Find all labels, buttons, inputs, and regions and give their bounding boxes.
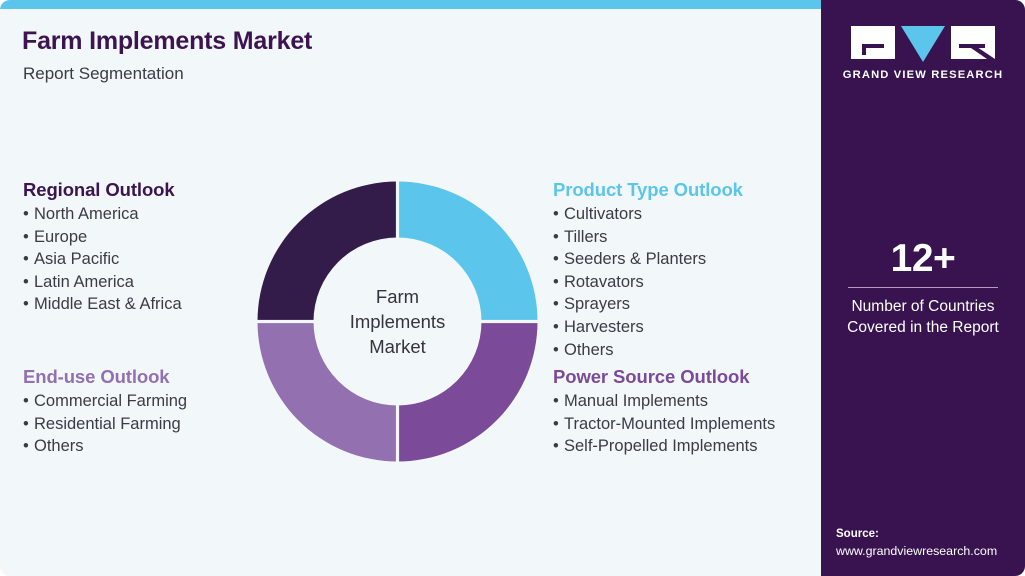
gvr-logo-icon <box>851 26 995 62</box>
source-url[interactable]: www.grandviewresearch.com <box>836 543 1025 560</box>
list-item-label: Manual Implements <box>564 392 708 410</box>
list-item: •Asia Pacific <box>23 248 182 271</box>
bullet-icon: • <box>23 271 34 294</box>
bullet-icon: • <box>23 226 34 249</box>
list-item: •Self-Propelled Implements <box>553 435 775 458</box>
bullet-icon: • <box>553 339 564 362</box>
list-item: •Commercial Farming <box>23 390 187 413</box>
list-item-label: Latin America <box>34 273 134 291</box>
countries-stat: 12+ Number of Countries Covered in the R… <box>821 238 1025 338</box>
bullet-icon: • <box>553 435 564 458</box>
bullet-icon: • <box>23 203 34 226</box>
list-item: •Rotavators <box>553 271 743 294</box>
right-sidebar: GRAND VIEW RESEARCH 12+ Number of Countr… <box>821 0 1025 576</box>
list-item-label: Others <box>564 341 614 359</box>
list-item: •Others <box>23 435 187 458</box>
grand-view-research-logo: GRAND VIEW RESEARCH <box>821 26 1025 81</box>
bullet-icon: • <box>23 390 34 413</box>
bullet-icon: • <box>553 293 564 316</box>
donut-segment-product-type <box>398 182 538 322</box>
list-item-label: Others <box>34 437 84 455</box>
list-item-label: Commercial Farming <box>34 392 187 410</box>
bullet-icon: • <box>553 390 564 413</box>
power-source-outlook-heading: Power Source Outlook <box>553 366 775 388</box>
list-item: •Cultivators <box>553 203 743 226</box>
list-item-label: Seeders & Planters <box>564 250 706 268</box>
list-item-label: Tractor-Mounted Implements <box>564 415 775 433</box>
donut-gap-top <box>396 181 399 239</box>
product-type-outlook-list: •Cultivators •Tillers •Seeders & Planter… <box>553 203 743 361</box>
bullet-icon: • <box>23 435 34 458</box>
donut-segment-regional <box>258 182 398 322</box>
stat-value: 12+ <box>821 238 1025 280</box>
list-item: •North America <box>23 203 182 226</box>
bullet-icon: • <box>553 226 564 249</box>
end-use-outlook-list: •Commercial Farming •Residential Farming… <box>23 390 187 458</box>
bullet-icon: • <box>553 413 564 436</box>
segmentation-donut-chart: Farm Implements Market <box>255 179 540 464</box>
list-item-label: Harvesters <box>564 318 644 336</box>
list-item-label: Asia Pacific <box>34 250 119 268</box>
stat-label-line-1: Number of Countries <box>821 296 1025 317</box>
list-item-label: Cultivators <box>564 205 642 223</box>
list-item-label: Europe <box>34 228 87 246</box>
power-source-outlook-list: •Manual Implements •Tractor-Mounted Impl… <box>553 390 775 458</box>
list-item: •Tractor-Mounted Implements <box>553 413 775 436</box>
donut-gap-right <box>481 320 539 323</box>
product-type-outlook-block: Product Type Outlook •Cultivators •Tille… <box>553 179 743 361</box>
page-title: Farm Implements Market <box>22 27 312 56</box>
donut-gap-bottom <box>396 405 399 463</box>
power-source-outlook-block: Power Source Outlook •Manual Implements … <box>553 366 775 458</box>
list-item: •Europe <box>23 226 182 249</box>
source-label: Source: <box>836 526 1025 543</box>
list-item: •Harvesters <box>553 316 743 339</box>
list-item: •Others <box>553 339 743 362</box>
donut-segment-power-source <box>398 322 538 462</box>
bullet-icon: • <box>553 203 564 226</box>
bullet-icon: • <box>553 316 564 339</box>
bullet-icon: • <box>23 293 34 316</box>
list-item: •Sprayers <box>553 293 743 316</box>
list-item: •Manual Implements <box>553 390 775 413</box>
end-use-outlook-heading: End-use Outlook <box>23 366 187 388</box>
donut-segment-end-use <box>258 322 398 462</box>
infographic-card: Farm Implements Market Report Segmentati… <box>0 0 1025 576</box>
bullet-icon: • <box>553 271 564 294</box>
list-item-label: Sprayers <box>564 295 630 313</box>
regional-outlook-block: Regional Outlook •North America •Europe … <box>23 179 182 316</box>
bullet-icon: • <box>23 248 34 271</box>
list-item-label: Rotavators <box>564 273 644 291</box>
bullet-icon: • <box>23 413 34 436</box>
list-item-label: Middle East & Africa <box>34 295 182 313</box>
stat-divider <box>848 287 998 288</box>
donut-svg <box>255 179 540 464</box>
main-content-area: Farm Implements Market Report Segmentati… <box>0 9 821 576</box>
source-block: Source: www.grandviewresearch.com <box>836 526 1025 560</box>
product-type-outlook-heading: Product Type Outlook <box>553 179 743 201</box>
bullet-icon: • <box>553 248 564 271</box>
list-item-label: Self-Propelled Implements <box>564 437 758 455</box>
stat-label-line-2: Covered in the Report <box>821 317 1025 338</box>
list-item: •Seeders & Planters <box>553 248 743 271</box>
end-use-outlook-block: End-use Outlook •Commercial Farming •Res… <box>23 366 187 458</box>
regional-outlook-list: •North America •Europe •Asia Pacific •La… <box>23 203 182 316</box>
list-item: •Latin America <box>23 271 182 294</box>
page-subtitle: Report Segmentation <box>23 64 184 84</box>
list-item: •Residential Farming <box>23 413 187 436</box>
regional-outlook-heading: Regional Outlook <box>23 179 182 201</box>
list-item-label: Residential Farming <box>34 415 181 433</box>
list-item-label: Tillers <box>564 228 607 246</box>
donut-gap-left <box>257 320 315 323</box>
logo-wordmark: GRAND VIEW RESEARCH <box>821 69 1025 81</box>
list-item: •Tillers <box>553 226 743 249</box>
list-item-label: North America <box>34 205 139 223</box>
list-item: •Middle East & Africa <box>23 293 182 316</box>
